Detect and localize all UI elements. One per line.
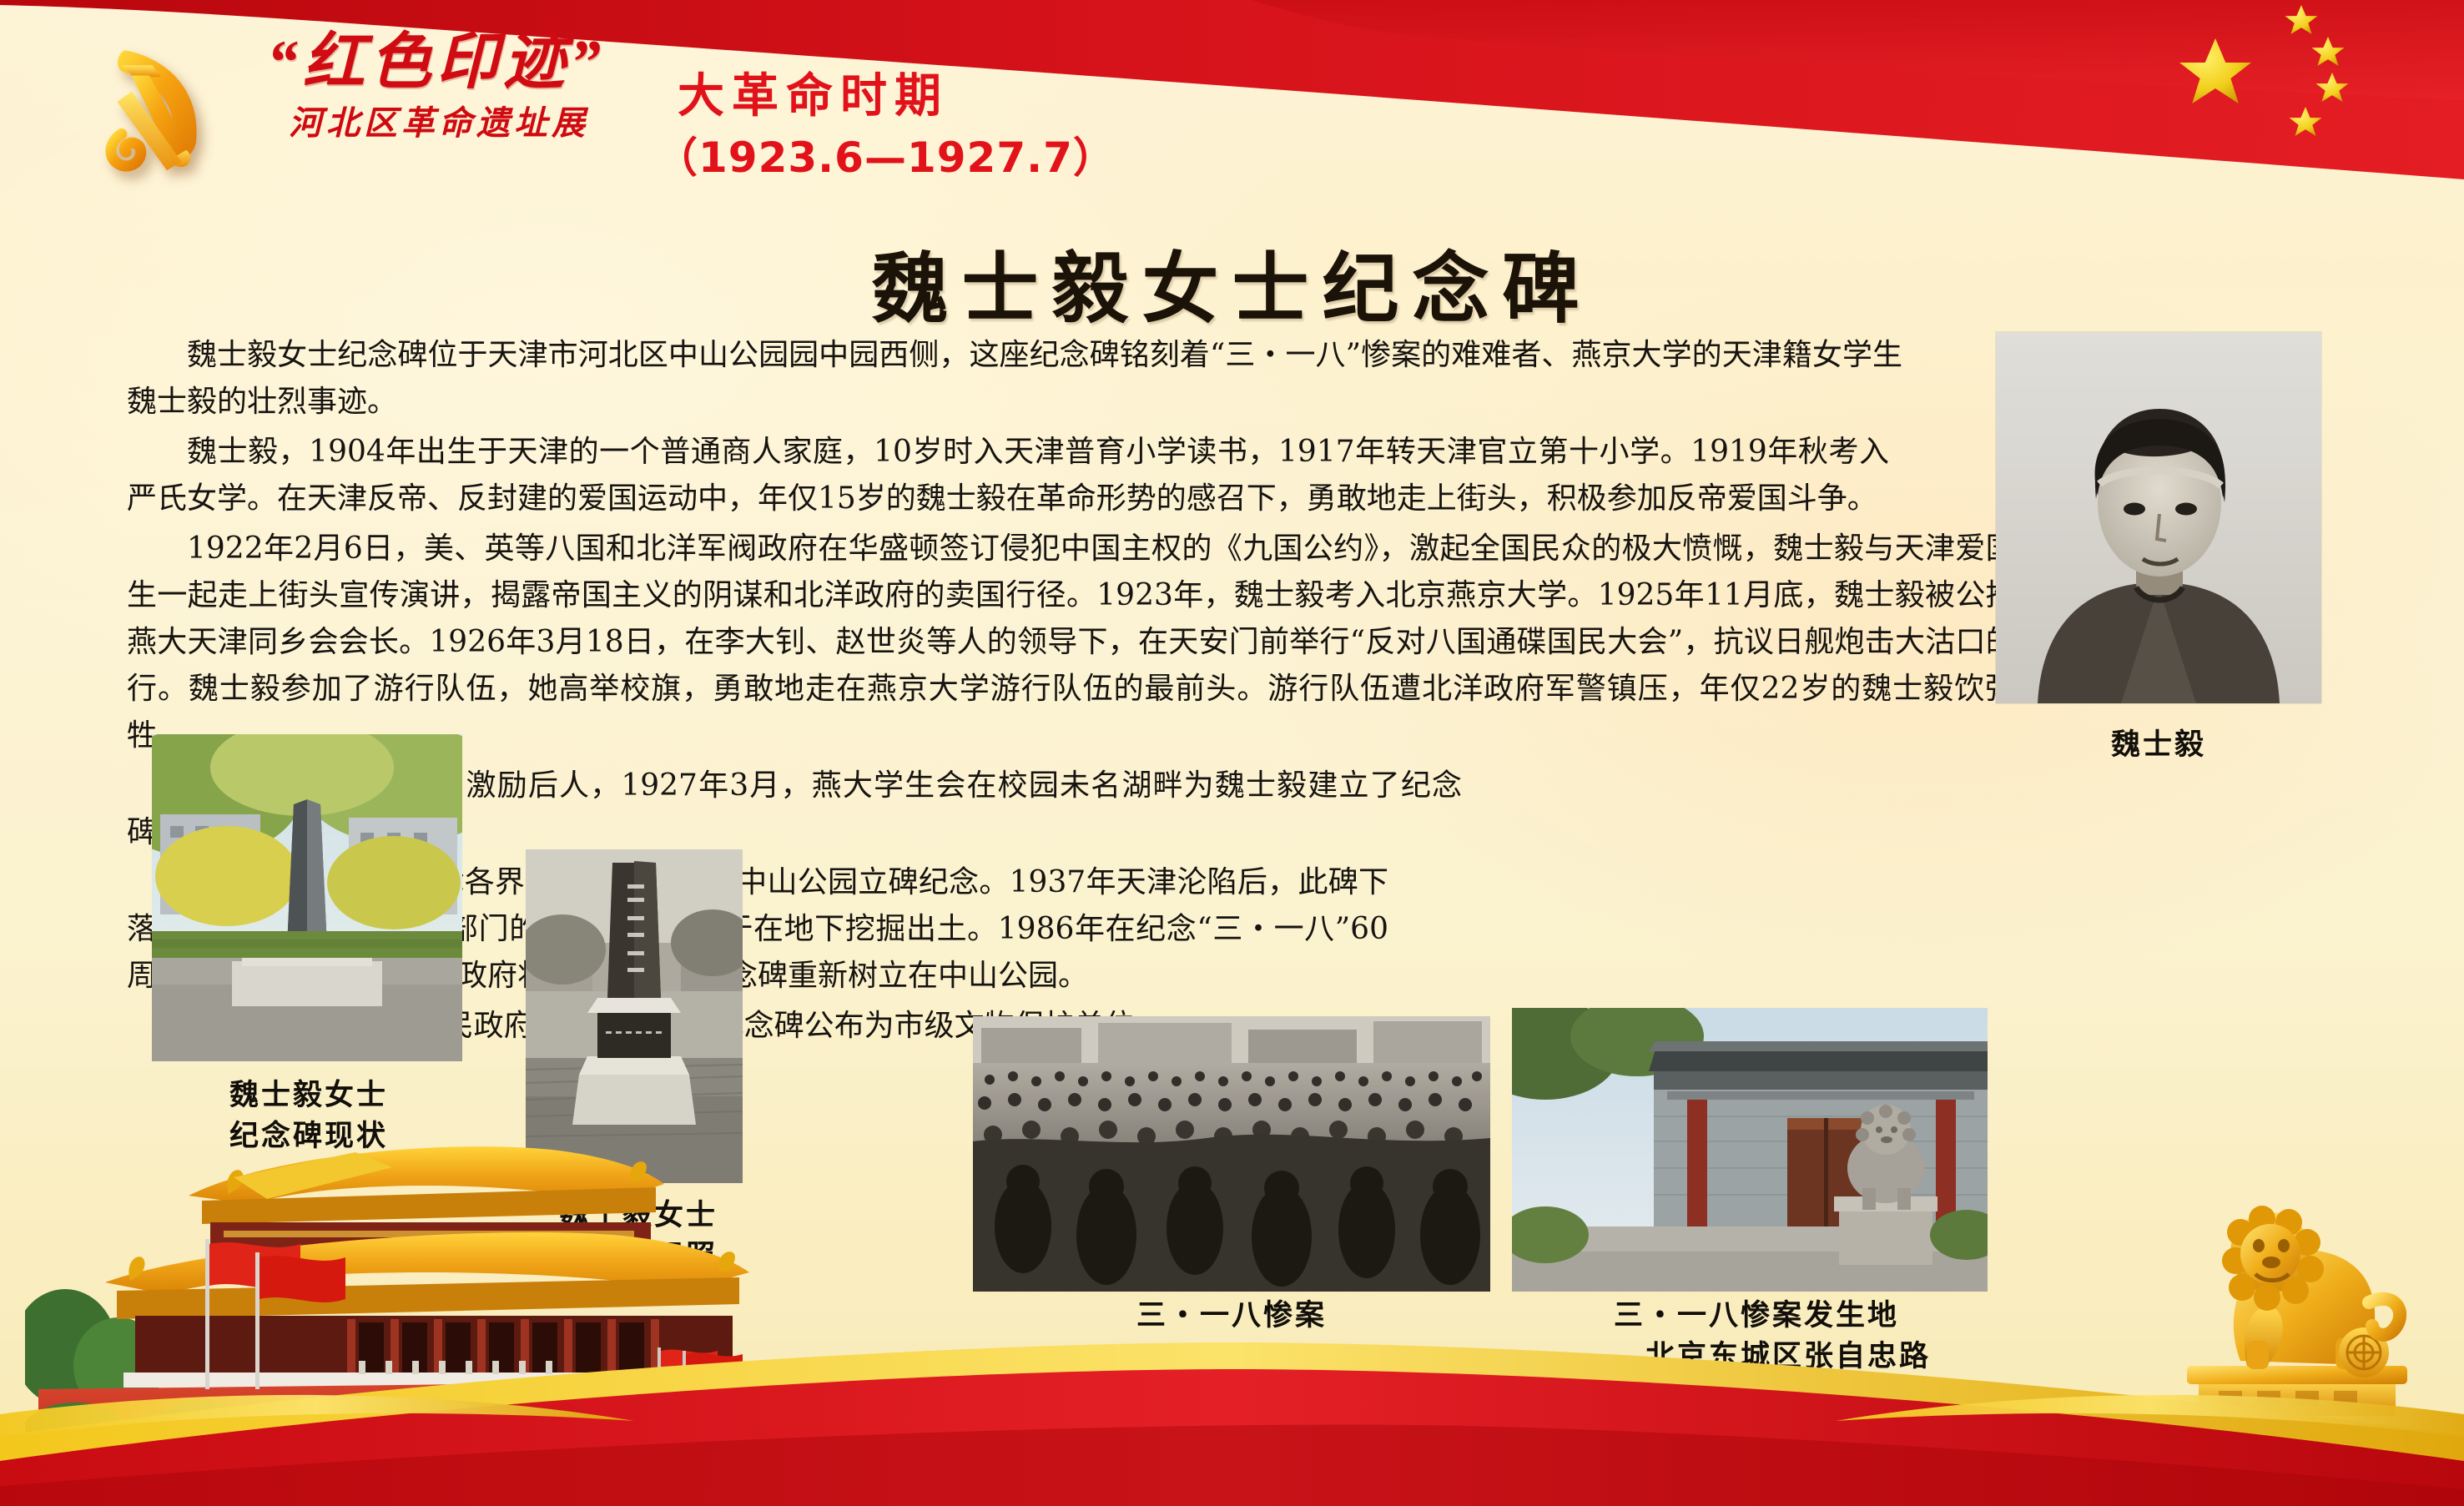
- page-title: 魏士毅女士纪念碑: [0, 227, 2464, 338]
- article-paragraph: 魏士毅，1904年出生于天津的一个普通商人家庭，10岁时入天津普育小学读书，19…: [127, 429, 1889, 522]
- crowd-historic-photo: [973, 1016, 1490, 1292]
- period-name: 大革命时期: [678, 73, 1145, 120]
- tiananmen-banner-left-text: [354, 1411, 493, 1426]
- monument-current-caption: 魏士毅女士 纪念碑现状: [134, 1075, 484, 1156]
- tiananmen-banner-right-text: [596, 1413, 705, 1428]
- portrait-caption: 魏士毅: [1996, 724, 2321, 765]
- period-range: （1923.6—1927.7）: [656, 137, 1145, 179]
- monument-current-photo: [152, 734, 462, 1061]
- courtyard-gate-caption: 三・一八惨案发生地 ——北京东城区张自忠路 （旧称铁狮子胡同）3号: [1469, 1295, 2044, 1418]
- monument-archive-caption: 魏士毅女士 纪念碑旧照: [509, 1195, 768, 1277]
- golden-guardian-lion-icon: [2164, 1156, 2431, 1431]
- article-paragraph: 1922年2月6日，美、英等八国和北洋军阀政府在华盛顿签订侵犯中国主权的《九国公…: [127, 526, 2046, 759]
- party-hammer-sickle-emblem-icon: [79, 32, 225, 178]
- portrait-photo: [1996, 332, 2321, 703]
- courtyard-gate-photo: [1512, 1008, 1988, 1292]
- poster-canvas: “红色印迹” 河北区革命遗址展 大革命时期 （1923.6—1927.7） 魏士…: [0, 0, 2464, 1506]
- prc-flag-five-stars-group: [2179, 38, 2251, 103]
- period-block: 大革命时期 （1923.6—1927.7）: [678, 73, 1145, 179]
- monument-archive-photo: [526, 849, 743, 1183]
- crowd-historic-caption: 三・一八惨案: [973, 1295, 1490, 1336]
- article-paragraph: 魏士毅女士纪念碑位于天津市河北区中山公园园中园西侧，这座纪念碑铭刻着“三・一八”…: [127, 332, 1902, 426]
